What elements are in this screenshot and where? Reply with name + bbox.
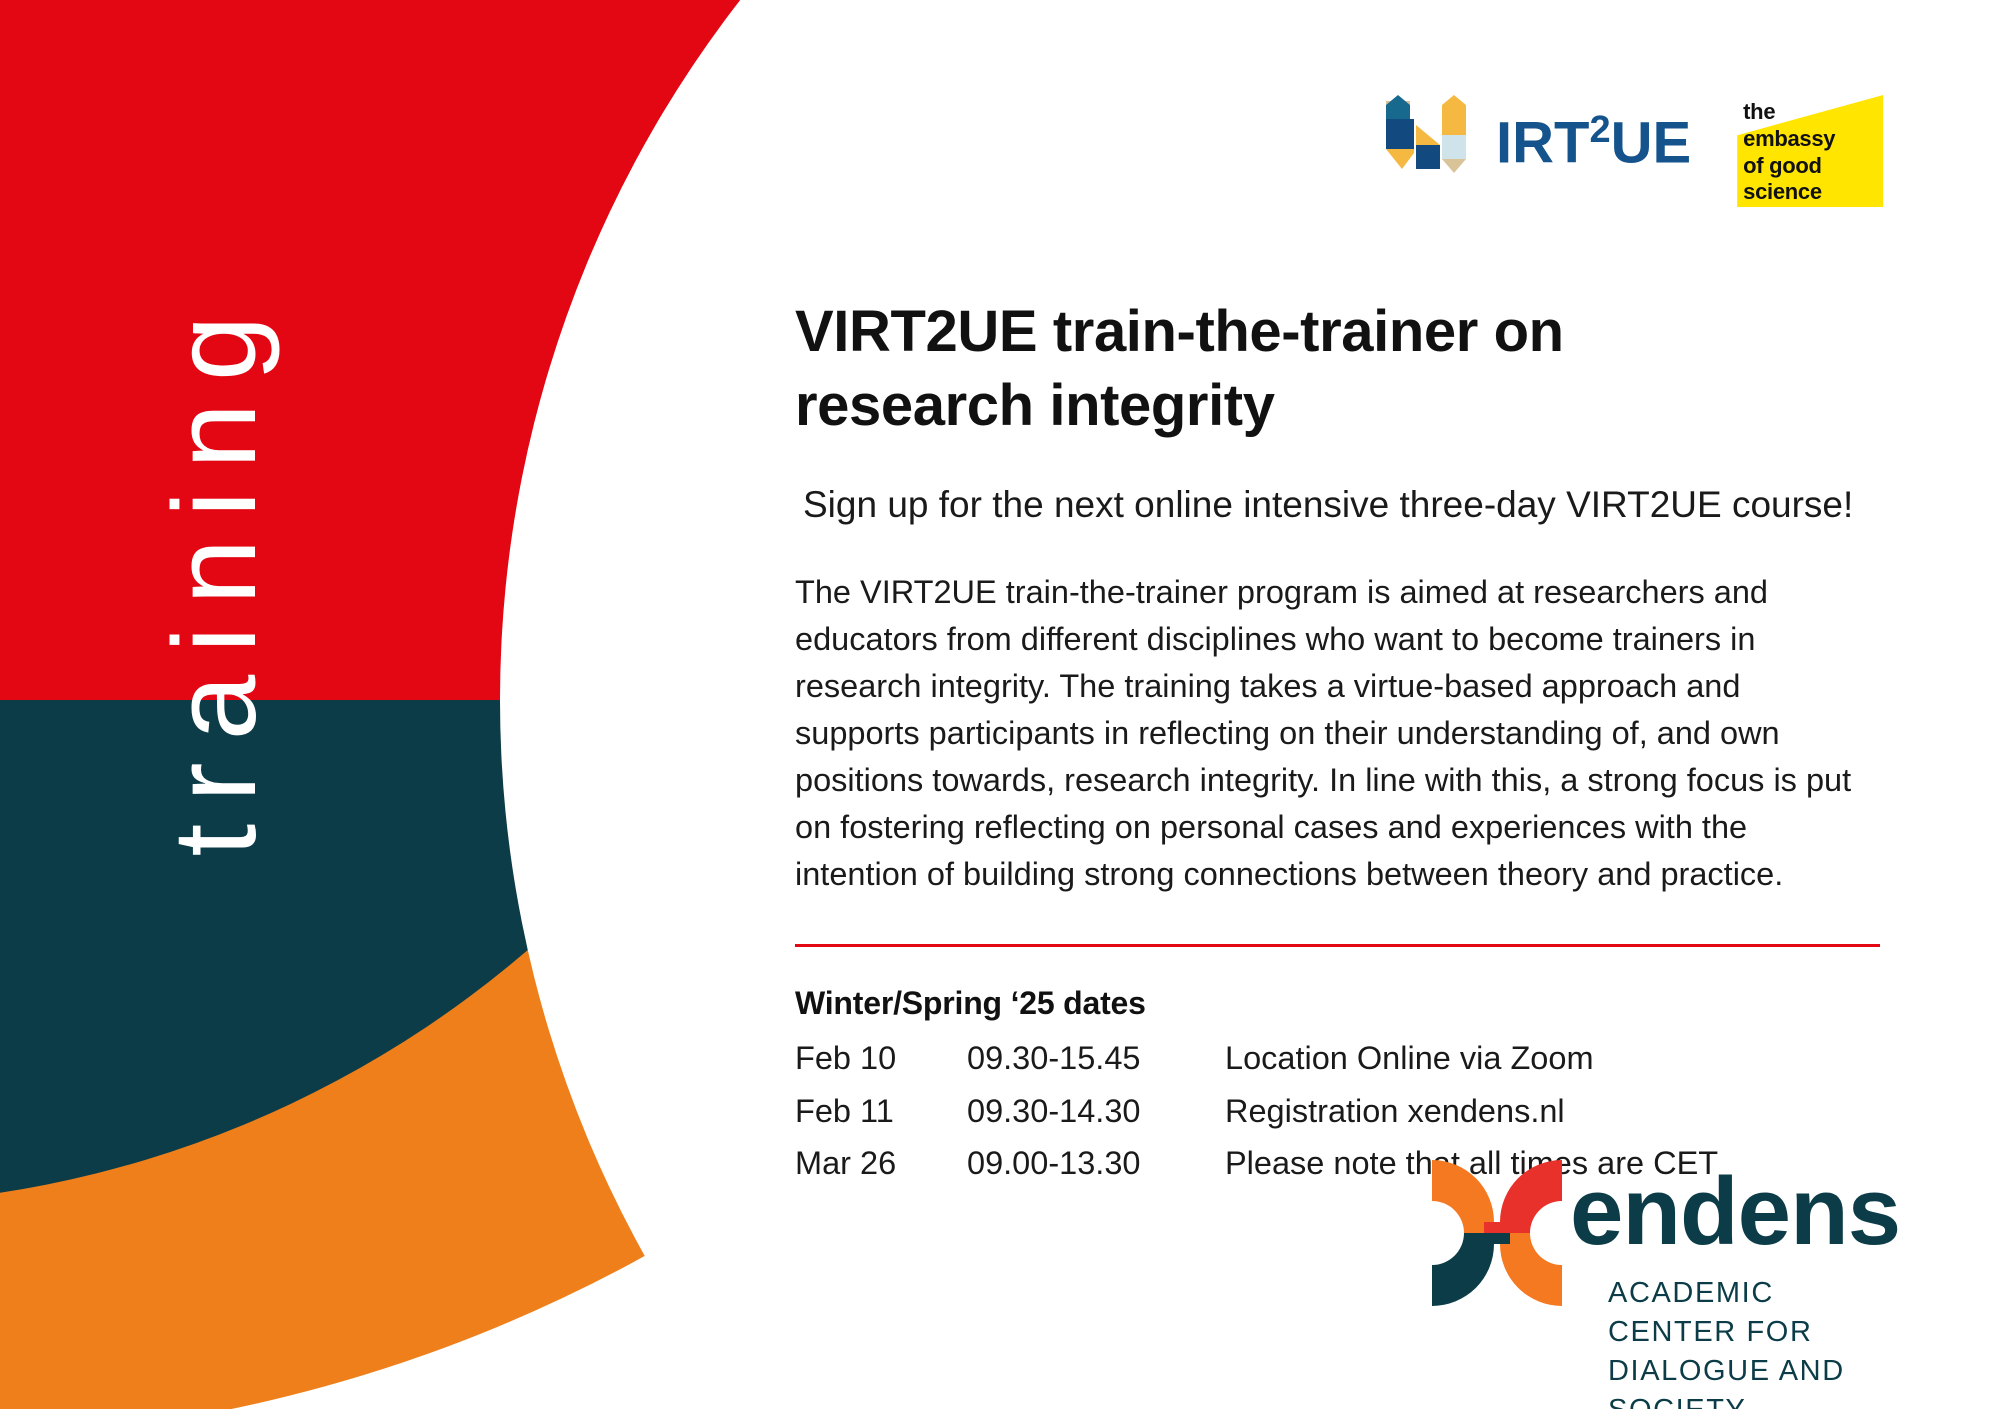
time-cell: 09.30-15.45 xyxy=(967,1032,1225,1085)
section-divider xyxy=(795,944,1880,947)
main-content: VIRT2UE train-the-trainer on research in… xyxy=(795,0,1885,1190)
time-cell: 09.00-13.30 xyxy=(967,1137,1225,1190)
time-cell: 09.30-14.30 xyxy=(967,1085,1225,1138)
xendens-logo: endens ACADEMIC CENTER FOR DIALOGUE AND … xyxy=(1422,1146,1882,1346)
poster-canvas: training IRT2UE xyxy=(0,0,2000,1409)
table-row: Feb 10 09.30-15.45 Location Online via Z… xyxy=(795,1032,1718,1085)
dates-heading: Winter/Spring ‘25 dates xyxy=(795,985,1885,1022)
date-cell: Feb 10 xyxy=(795,1032,967,1085)
xendens-tagline: ACADEMIC CENTER FOR DIALOGUE AND SOCIETY xyxy=(1608,1274,1882,1409)
date-cell: Feb 11 xyxy=(795,1085,967,1138)
date-cell: Mar 26 xyxy=(795,1137,967,1190)
table-row: Feb 11 09.30-14.30 Registration xendens.… xyxy=(795,1085,1718,1138)
info-cell-location: Location Online via Zoom xyxy=(1225,1032,1718,1085)
page-title-line-1: VIRT2UE train-the-trainer on xyxy=(795,299,1564,364)
xendens-tagline-line-1: ACADEMIC CENTER FOR xyxy=(1608,1274,1882,1352)
subheading: Sign up for the next online intensive th… xyxy=(803,482,1885,528)
xendens-wordmark: endens xyxy=(1570,1164,1900,1260)
body-paragraph: The VIRT2UE train-the-trainer program is… xyxy=(795,569,1860,899)
info-cell-registration[interactable]: Registration xendens.nl xyxy=(1225,1085,1718,1138)
xendens-x-mark-icon xyxy=(1422,1148,1572,1318)
page-title: VIRT2UE train-the-trainer on research in… xyxy=(795,295,1885,443)
xendens-tagline-line-2: DIALOGUE AND SOCIETY xyxy=(1608,1352,1882,1409)
page-title-line-2: research integrity xyxy=(795,373,1275,438)
